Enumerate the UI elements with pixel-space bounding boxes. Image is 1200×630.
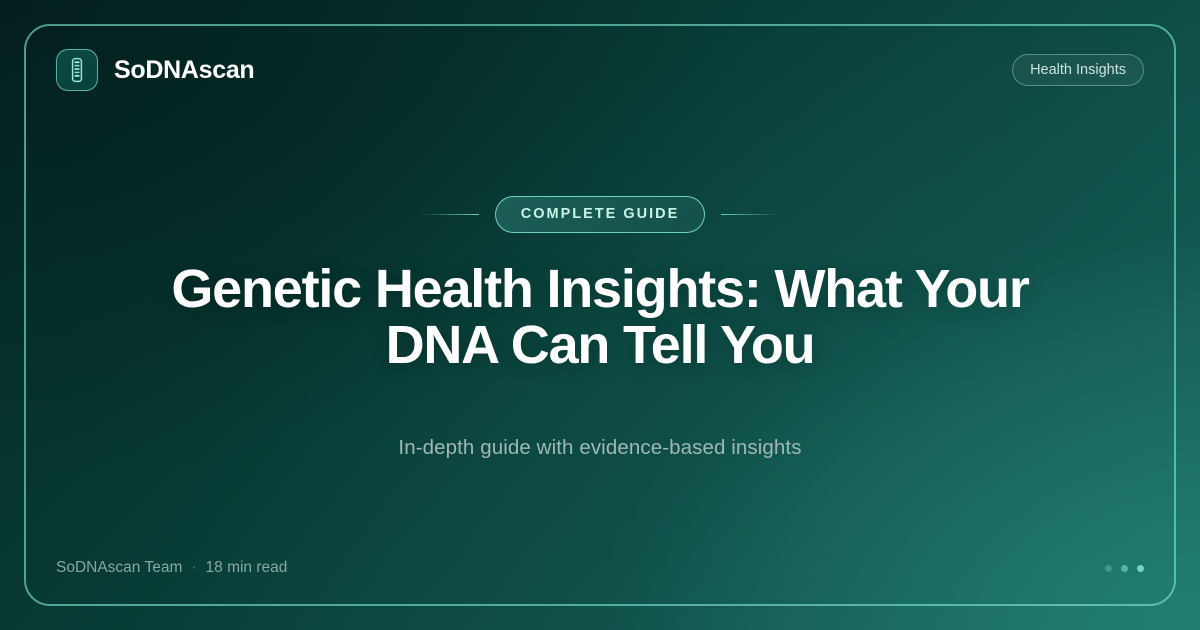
card-header: SoDNAscan Health Insights [56,42,1144,98]
dot-icon [1121,565,1128,572]
hero-section: COMPLETE GUIDE Genetic Health Insights: … [0,196,1200,462]
page-title: Genetic Health Insights: What Your DNA C… [160,261,1040,373]
brand-name: SoDNAscan [114,58,254,83]
card-footer: SoDNAscan Team · 18 min read [56,556,1144,580]
byline: SoDNAscan Team · 18 min read [56,560,287,576]
eyebrow-badge: COMPLETE GUIDE [495,196,706,233]
author-name: SoDNAscan Team [56,560,182,576]
category-badge[interactable]: Health Insights [1012,54,1144,86]
dot-icon [1105,565,1112,572]
byline-separator: · [191,560,196,576]
dot-icon [1137,565,1144,572]
decorative-dots [1105,565,1144,572]
eyebrow-rule-left [421,214,479,215]
eyebrow-rule-right [721,214,779,215]
eyebrow-row: COMPLETE GUIDE [421,196,780,233]
read-time: 18 min read [206,560,288,576]
page-subtitle: In-depth guide with evidence-based insig… [398,435,801,462]
og-card-canvas: SoDNAscan Health Insights COMPLETE GUIDE… [0,0,1200,630]
dna-strand-icon [56,49,98,91]
brand-lockup[interactable]: SoDNAscan [56,49,254,91]
